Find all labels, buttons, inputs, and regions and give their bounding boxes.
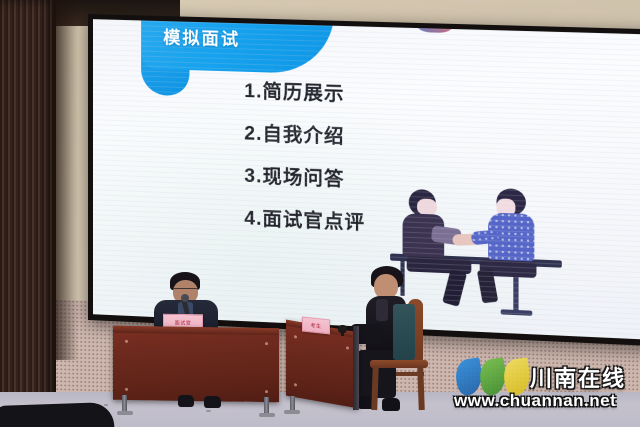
candidate-desk-foot [284,410,300,414]
watermark: 川南在线 www.chuannan.net [452,357,638,423]
chair-stretcher [396,372,424,376]
foreground-dark-object [0,402,114,427]
interviewer-desk [113,326,279,403]
desk-screw [265,390,268,393]
watermark-url: www.chuannan.net [454,391,616,411]
slide-bullet-1: 1.简历展示 [244,76,482,111]
illustration-left-leg [442,269,467,307]
desk-screw [125,340,128,343]
bench-foot-right [501,309,533,316]
interviewer-shoe-left [178,395,194,407]
desk-screw [125,388,128,391]
desk-microphone-stand [341,331,344,336]
floor-speck [206,410,211,412]
desk-screw [265,342,268,345]
photograph: 模拟面试 1.简历展示 2.自我介绍 3.现场问答 4.面试官点评 [0,0,640,427]
interviewer-shoe-right [204,396,221,408]
candidate-shoe-right [382,398,400,411]
candidate-name-card: 考生 [302,317,330,335]
desk-screw [346,346,349,350]
watermark-site-name: 川南在线 [530,361,626,393]
microphone-head [181,294,189,302]
curtain-shadow [52,0,78,360]
slide-bullet-2: 2.自我介绍 [244,118,482,154]
interviewer-desk-foot-right [259,413,275,417]
slide-title-text: 模拟面试 [163,23,316,58]
chair-back-pad [393,304,415,360]
desk-screw [294,335,297,339]
floor-speck [104,404,108,406]
interviewer-desk-top [113,326,279,336]
candidate-desk-side-panel [353,326,359,410]
candidate-shirt [376,299,388,321]
desk-screw [294,383,297,387]
interviewer-desk-foot-left [117,411,133,415]
curtain-slat-panel [0,0,56,408]
interviewer-glasses [173,288,198,293]
candidate-name-card-text: 考生 [303,321,329,331]
